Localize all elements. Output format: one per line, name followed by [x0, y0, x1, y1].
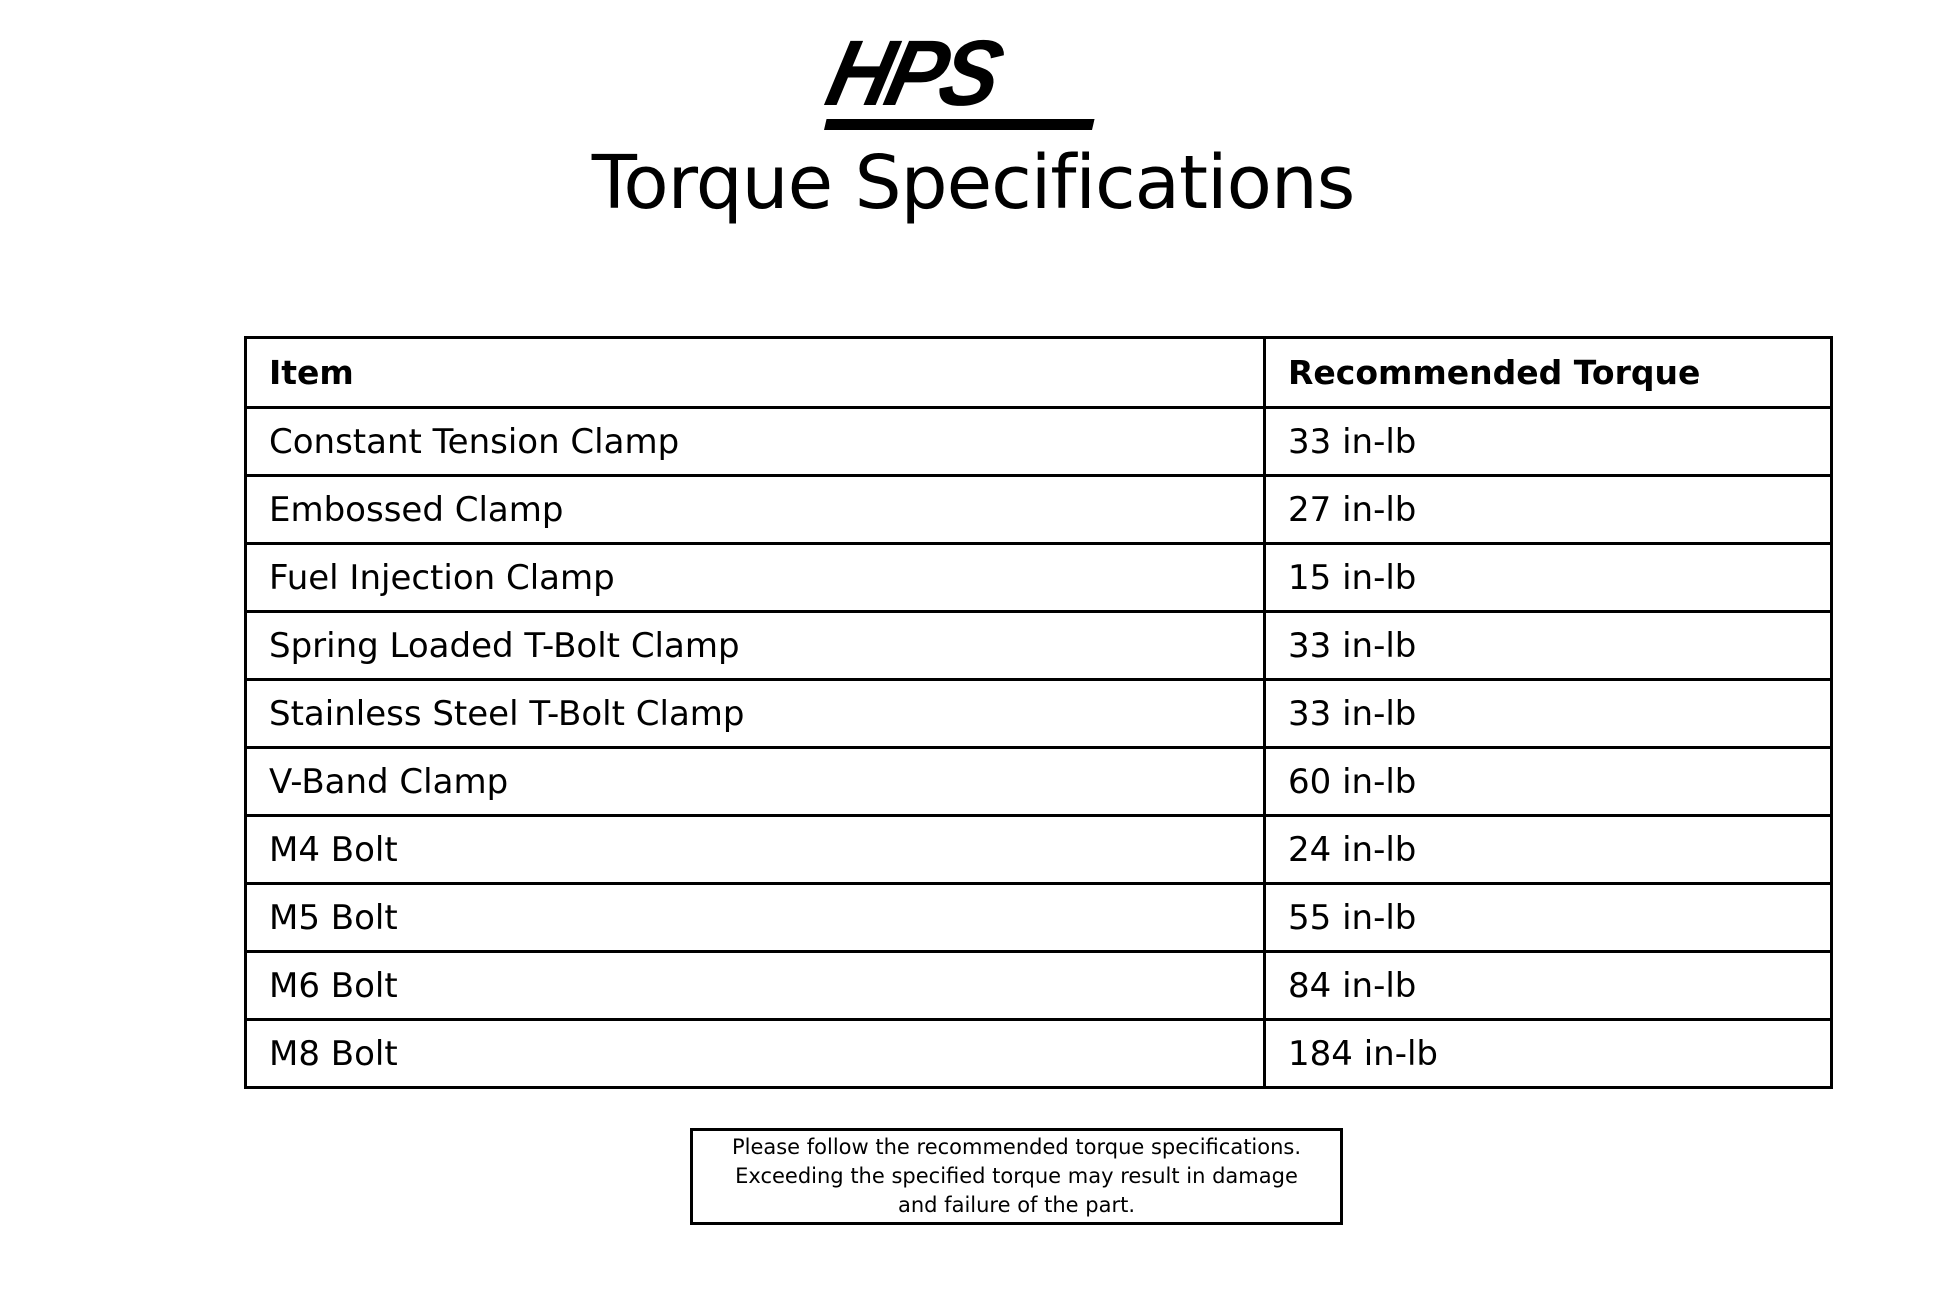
cell-torque: 33 in-lb — [1265, 680, 1832, 748]
cell-torque: 84 in-lb — [1265, 952, 1832, 1020]
cell-torque: 33 in-lb — [1265, 408, 1832, 476]
brand-logo: HPS — [0, 34, 1946, 134]
table-row: M5 Bolt 55 in-lb — [246, 884, 1832, 952]
page-title: Torque Specifications — [0, 140, 1946, 226]
table-row: V-Band Clamp 60 in-lb — [246, 748, 1832, 816]
cell-torque: 15 in-lb — [1265, 544, 1832, 612]
cell-item: Embossed Clamp — [246, 476, 1265, 544]
table-row: Spring Loaded T-Bolt Clamp 33 in-lb — [246, 612, 1832, 680]
cell-item: M8 Bolt — [246, 1020, 1265, 1088]
table-header: Item Recommended Torque — [246, 338, 1832, 408]
warning-note-line: and failure of the part. — [898, 1191, 1135, 1220]
warning-note-box: Please follow the recommended torque spe… — [690, 1128, 1343, 1225]
cell-item: Stainless Steel T-Bolt Clamp — [246, 680, 1265, 748]
table-row: Fuel Injection Clamp 15 in-lb — [246, 544, 1832, 612]
column-header-torque: Recommended Torque — [1265, 338, 1832, 408]
hps-logo-underline — [824, 119, 1095, 130]
table-row: M8 Bolt 184 in-lb — [246, 1020, 1832, 1088]
hps-logo-icon: HPS — [818, 34, 1128, 130]
cell-item: M4 Bolt — [246, 816, 1265, 884]
cell-item: V-Band Clamp — [246, 748, 1265, 816]
table-row: Embossed Clamp 27 in-lb — [246, 476, 1832, 544]
warning-note-line: Please follow the recommended torque spe… — [732, 1133, 1301, 1162]
cell-torque: 184 in-lb — [1265, 1020, 1832, 1088]
table-row: Constant Tension Clamp 33 in-lb — [246, 408, 1832, 476]
cell-item: M6 Bolt — [246, 952, 1265, 1020]
cell-torque: 55 in-lb — [1265, 884, 1832, 952]
cell-item: Fuel Injection Clamp — [246, 544, 1265, 612]
hps-logo-text: HPS — [818, 22, 1007, 124]
cell-item: Spring Loaded T-Bolt Clamp — [246, 612, 1265, 680]
cell-torque: 33 in-lb — [1265, 612, 1832, 680]
column-header-item: Item — [246, 338, 1265, 408]
cell-torque: 60 in-lb — [1265, 748, 1832, 816]
cell-item: Constant Tension Clamp — [246, 408, 1265, 476]
cell-torque: 27 in-lb — [1265, 476, 1832, 544]
cell-torque: 24 in-lb — [1265, 816, 1832, 884]
warning-note-line: Exceeding the specified torque may resul… — [735, 1162, 1298, 1191]
cell-item: M5 Bolt — [246, 884, 1265, 952]
torque-specifications-table: Item Recommended Torque Constant Tension… — [244, 336, 1833, 1089]
table-row: M4 Bolt 24 in-lb — [246, 816, 1832, 884]
table-row: M6 Bolt 84 in-lb — [246, 952, 1832, 1020]
table-header-row: Item Recommended Torque — [246, 338, 1832, 408]
table-row: Stainless Steel T-Bolt Clamp 33 in-lb — [246, 680, 1832, 748]
table-body: Constant Tension Clamp 33 in-lb Embossed… — [246, 408, 1832, 1088]
